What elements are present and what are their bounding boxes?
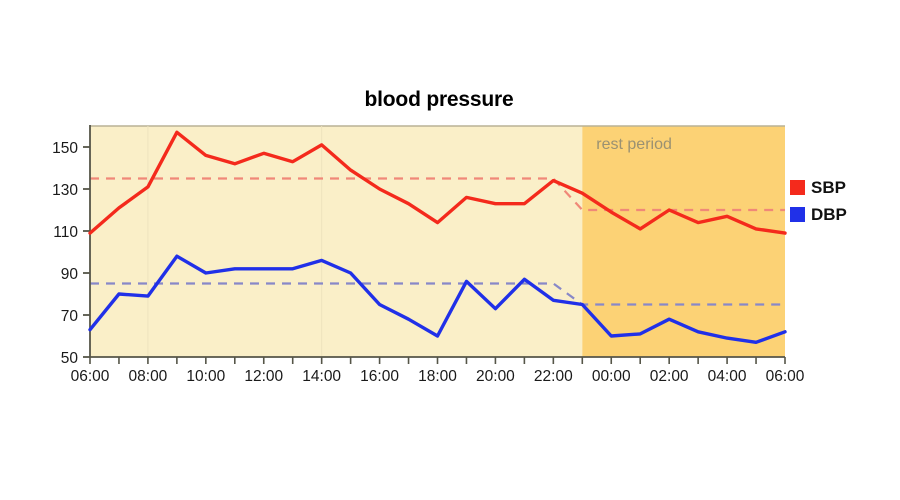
y-tick-label: 150 [52,140,78,157]
awake-period-region [90,126,582,357]
rest-period-label: rest period [596,136,672,153]
x-tick-label: 16:00 [360,368,399,385]
y-tick-label: 90 [61,266,79,283]
x-tick-label: 00:00 [592,368,631,385]
x-tick-label: 06:00 [766,368,805,385]
legend-swatch-dbp [790,207,805,222]
x-tick-label: 06:00 [71,368,110,385]
x-tick-label: 20:00 [476,368,515,385]
x-tick-label: 18:00 [418,368,457,385]
y-tick-label: 50 [61,350,79,367]
rest-period-region [582,126,785,357]
x-tick-label: 14:00 [302,368,341,385]
x-tick-label: 12:00 [244,368,283,385]
legend-label-dbp: DBP [811,205,847,224]
y-tick-label: 130 [52,182,78,199]
x-tick-label: 22:00 [534,368,573,385]
y-tick-label: 110 [53,224,78,241]
blood-pressure-chart: blood pressure 50709011013015006:0008:00… [0,0,900,500]
legend-label-sbp: SBP [811,178,846,197]
plot-canvas: 50709011013015006:0008:0010:0012:0014:00… [0,0,900,500]
legend-swatch-sbp [790,180,805,195]
x-tick-label: 04:00 [708,368,747,385]
x-tick-label: 08:00 [129,368,168,385]
x-tick-label: 02:00 [650,368,689,385]
y-tick-label: 70 [61,308,79,325]
x-tick-label: 10:00 [186,368,225,385]
